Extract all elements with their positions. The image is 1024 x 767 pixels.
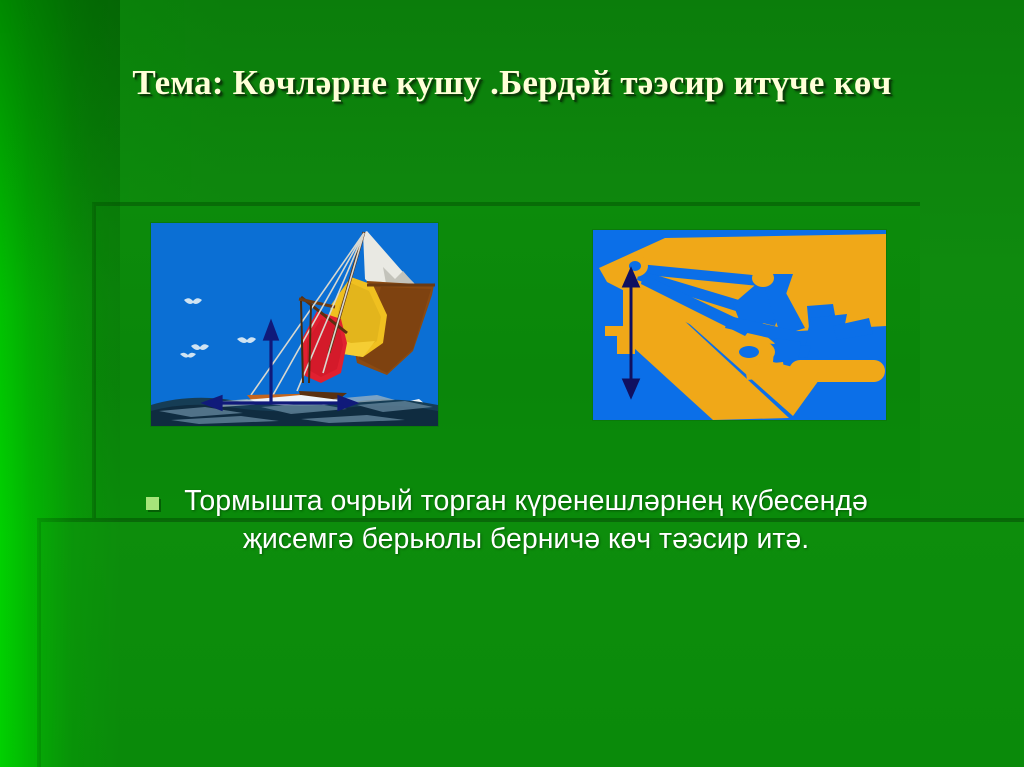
slide-canvas: Тема: Көчләрне кушу .Бердәй тәэсир итүче…	[0, 0, 1024, 767]
sailboat-graphic	[151, 223, 438, 426]
slide-title: Тема: Көчләрне кушу .Бердәй тәэсир итүче…	[40, 58, 984, 108]
crane-illustration	[592, 229, 887, 421]
body-bullet-block: Тормышта очрый торган күренешләрнең күбе…	[146, 483, 906, 559]
body-text: Тормышта очрый торган күренешләрнең күбе…	[146, 483, 906, 559]
sailboat-illustration	[150, 222, 439, 427]
crane-graphic	[593, 230, 886, 420]
